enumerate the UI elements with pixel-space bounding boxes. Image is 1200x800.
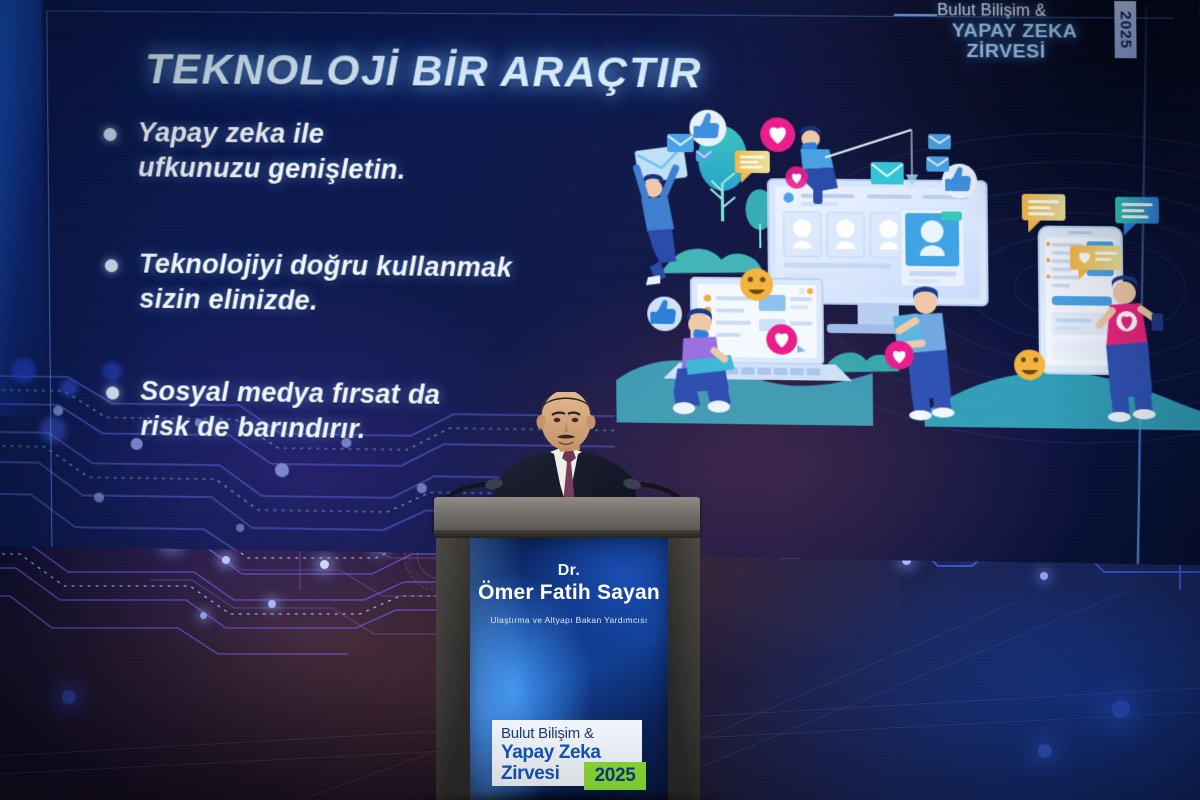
thumbs-up-icon xyxy=(647,296,682,331)
slide-event-logo: Bulut Bilişim & YAPAY ZEKA ZİRVESİ 2025 xyxy=(916,0,1134,62)
bullet-2-text: Teknolojiyi doğru kullanmak sizin eliniz… xyxy=(139,247,669,323)
podium-logo-line2: Yapay Zeka xyxy=(501,742,601,764)
podium-left-side xyxy=(436,538,472,800)
bullet-dot-icon xyxy=(104,128,117,141)
logo-accent-line xyxy=(894,14,937,16)
slide-logo-year-text: 2025 xyxy=(1116,11,1134,49)
podium-top-surface xyxy=(434,497,700,531)
slide-bullet-1: Yapay zeka ile ufkunuzu genişletin. xyxy=(99,115,667,190)
slide-logo-line1: Bulut Bilişim & xyxy=(937,2,1046,21)
podium-role: Ulaştırma ve Altyapı Bakan Yardımcısı xyxy=(470,615,668,625)
slide-logo-year-badge: 2025 xyxy=(1114,1,1136,58)
projector-left-edge-glow xyxy=(0,0,46,417)
stage-scene: SAYAN an Yardımcısı xyxy=(0,0,1200,800)
podium-front-panel: Dr. Ömer Fatih Sayan Ulaştırma ve Altyap… xyxy=(470,538,668,800)
envelope-icon xyxy=(696,150,713,161)
bullet-dot-icon xyxy=(106,387,119,400)
thumbs-up-icon xyxy=(689,110,726,147)
podium-logo-line1: Bulut Bilişim & xyxy=(501,725,594,742)
podium-logo-line3: Zirvesi xyxy=(501,763,559,785)
envelope-icon xyxy=(667,134,694,152)
bullet-1-text: Yapay zeka ile ufkunuzu genişletin. xyxy=(138,115,668,189)
envelope-icon xyxy=(871,162,904,185)
chat-bubble-icon xyxy=(1115,197,1159,236)
slide-bullet-2: Teknolojiyi doğru kullanmak sizin eliniz… xyxy=(101,246,669,322)
podium-floor-shadow xyxy=(400,790,740,800)
podium-nameplate: Dr. Ömer Fatih Sayan Ulaştırma ve Altyap… xyxy=(470,562,668,625)
podium-name-prefix: Dr. xyxy=(470,562,668,580)
podium-top-edge xyxy=(434,530,700,538)
bullet-dot-icon xyxy=(105,259,118,272)
podium: Dr. Ömer Fatih Sayan Ulaştırma ve Altyap… xyxy=(426,497,708,800)
podium-right-side xyxy=(666,538,700,800)
podium-logo-year-badge: 2025 xyxy=(584,762,646,790)
social-media-illustration xyxy=(614,109,1200,430)
envelope-icon xyxy=(926,156,949,171)
envelope-icon xyxy=(928,134,951,149)
podium-name: Ömer Fatih Sayan xyxy=(470,581,668,605)
heart-icon xyxy=(760,117,795,152)
slide-title: TEKNOLOJİ BİR ARAÇTIR xyxy=(145,45,702,98)
slide-logo-line3: ZİRVESİ xyxy=(966,41,1045,64)
podium-event-logo: Bulut Bilişim & Yapay Zeka Zirvesi 2025 xyxy=(492,720,642,786)
